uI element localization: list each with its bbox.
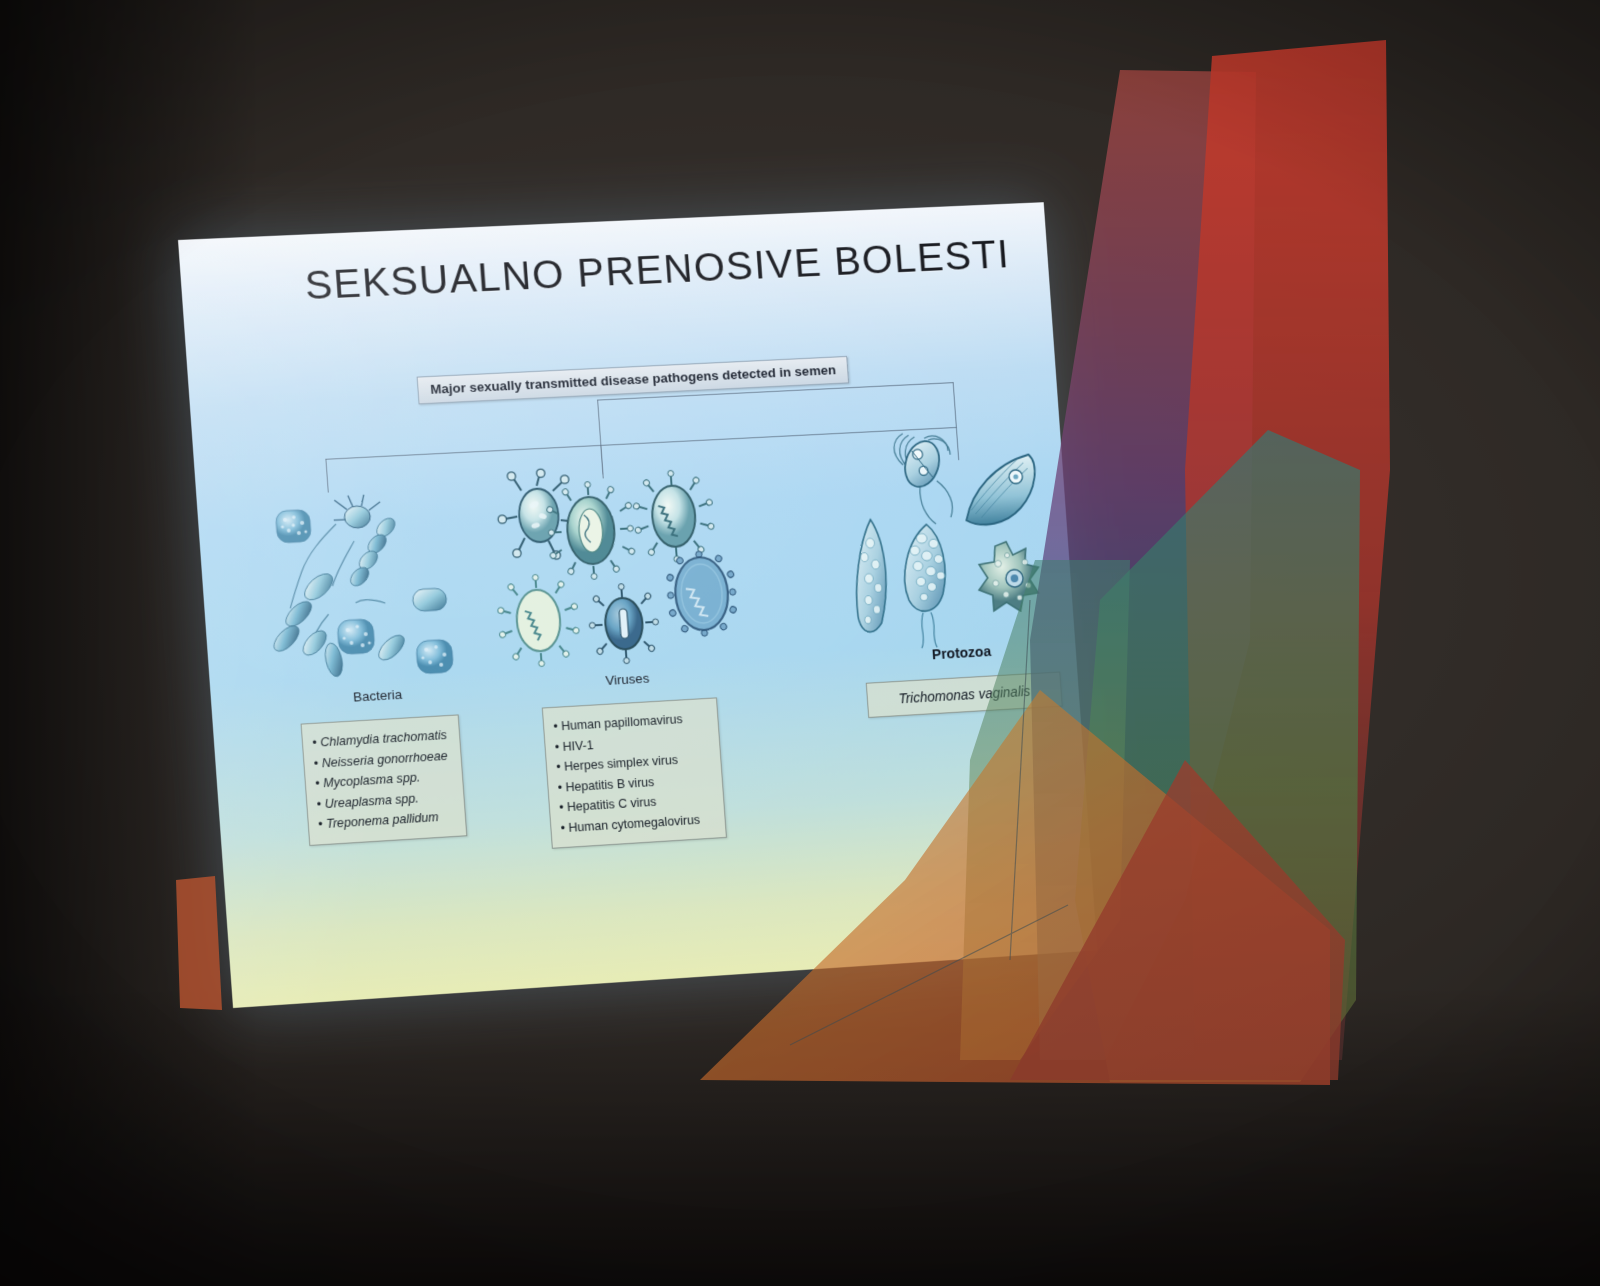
bacteria-illustration bbox=[257, 487, 483, 692]
list-item: Trichomonas vaginalis bbox=[875, 682, 1053, 708]
projection-screen: SEKSUALNO PRENOSIVE BOLESTI Major sexual… bbox=[178, 202, 1097, 1008]
protozoa-illustration bbox=[835, 414, 1070, 650]
group-protozoa: Protozoa Trichomonas vaginalis bbox=[835, 414, 1075, 718]
list-box-viruses: Human papillomavirus HIV-1 Herpes simple… bbox=[541, 697, 726, 849]
group-viruses: Viruses Human papillomavirus HIV-1 Herpe… bbox=[493, 462, 758, 851]
slide-title: SEKSUALNO PRENOSIVE BOLESTI bbox=[303, 231, 1011, 309]
projected-slide-scene: SEKSUALNO PRENOSIVE BOLESTI Major sexual… bbox=[0, 0, 1600, 1286]
wall-shadow-bottom bbox=[0, 986, 1600, 1286]
slide: SEKSUALNO PRENOSIVE BOLESTI Major sexual… bbox=[178, 202, 1097, 1008]
list-box-bacteria: Chlamydia trachomatis Neisseria gonorrho… bbox=[300, 714, 467, 845]
group-bacteria: Bacteria Chlamydia trachomatis Neisseria… bbox=[257, 487, 494, 847]
connector-branch-left bbox=[325, 459, 328, 493]
viruses-illustration bbox=[493, 462, 746, 677]
list-box-protozoa: Trichomonas vaginalis bbox=[866, 671, 1063, 718]
